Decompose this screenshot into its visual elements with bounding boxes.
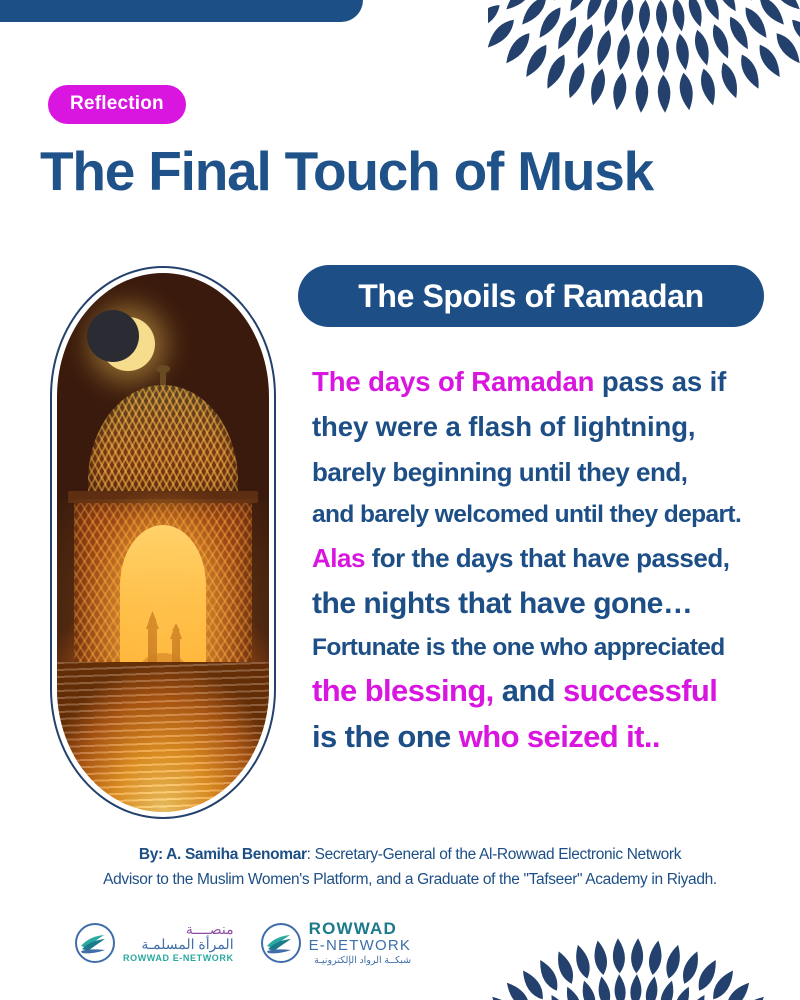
top-accent-bar xyxy=(0,0,363,22)
logo-arabic: شبكــة الرواد الإلكترونيـة xyxy=(309,956,411,966)
logo-english: ROWWAD E-NETWORK xyxy=(123,954,234,964)
quote-line: Fortunate is the one who appreciated xyxy=(312,628,790,668)
quote-line: and barely welcomed until they depart. xyxy=(312,495,790,535)
logo-row: منصــــة المرأة المسلمـة ROWWAD E-NETWOR… xyxy=(74,920,411,966)
logo-text-block: منصــــة المرأة المسلمـة ROWWAD E-NETWOR… xyxy=(123,922,234,964)
quote-segment: the blessing, xyxy=(312,673,494,708)
quote-segment: and barely welcomed until they depart. xyxy=(312,501,741,528)
quote-segment: successful xyxy=(563,673,717,708)
mandala-ornament-top-icon xyxy=(488,0,800,132)
author-name: By: A. Samiha Benomar xyxy=(139,846,307,863)
illustration-card xyxy=(50,266,276,819)
quote-segment: pass as if xyxy=(594,366,726,397)
logo-english-bottom: E-NETWORK xyxy=(309,938,411,954)
rowwad-enetwork-logo: ROWWAD E-NETWORK شبكــة الرواد الإلكترون… xyxy=(260,920,411,966)
open-book-circle-icon xyxy=(260,922,302,964)
quote-segment: The days of Ramadan xyxy=(312,366,594,397)
muslim-woman-platform-logo: منصــــة المرأة المسلمـة ROWWAD E-NETWOR… xyxy=(74,922,234,964)
author-role: : Secretary-General of the Al-Rowwad Ele… xyxy=(307,846,681,863)
quote-line: the nights that have gone… xyxy=(312,581,790,626)
quote-line: they were a flash of lightning, xyxy=(312,405,790,448)
poster-canvas: Reflection The Final Touch of Musk xyxy=(0,0,800,1000)
logo-english-top: ROWWAD xyxy=(309,920,411,938)
logo-text-block: ROWWAD E-NETWORK شبكــة الرواد الإلكترون… xyxy=(309,920,411,966)
quote-segment: and xyxy=(494,673,563,708)
byline: By: A. Samiha Benomar: Secretary-General… xyxy=(50,842,770,892)
section-heading-pill: The Spoils of Ramadan xyxy=(298,265,764,327)
quote-segment: Alas xyxy=(312,543,365,573)
open-book-circle-icon xyxy=(74,922,116,964)
illustration-image xyxy=(57,273,269,812)
quote-segment: barely beginning until they end, xyxy=(312,457,687,487)
quote-segment: the nights that have gone… xyxy=(312,587,692,620)
quote-segment: Fortunate is the one who appreciated xyxy=(312,634,725,661)
quote-line: Alas for the days that have passed, xyxy=(312,537,790,579)
quote-segment: they were a flash of lightning, xyxy=(312,411,695,442)
byline-line-2: Advisor to the Muslim Women's Platform, … xyxy=(50,867,770,892)
logo-arabic-top: منصــــة xyxy=(123,922,234,937)
mosque-dome-icon xyxy=(88,385,238,505)
page-title: The Final Touch of Musk xyxy=(40,141,780,202)
quote-body: The days of Ramadan pass as ifthey were … xyxy=(312,360,790,762)
quote-line: the blessing, and successful xyxy=(312,669,790,713)
quote-line: barely beginning until they end, xyxy=(312,451,790,493)
glowing-floor xyxy=(57,662,269,812)
byline-line-1: By: A. Samiha Benomar: Secretary-General… xyxy=(50,842,770,867)
quote-segment: who seized it.. xyxy=(459,719,660,754)
quote-line: is the one who seized it.. xyxy=(312,715,790,759)
mandala-ornament-bottom-icon xyxy=(478,884,778,1000)
reflection-badge: Reflection xyxy=(48,85,186,124)
crescent-moon-icon xyxy=(101,317,155,371)
quote-line: The days of Ramadan pass as if xyxy=(312,360,790,403)
quote-segment: for the days that have passed, xyxy=(365,543,730,573)
quote-segment: is the one xyxy=(312,719,459,754)
logo-arabic-bottom: المرأة المسلمـة xyxy=(123,937,234,952)
